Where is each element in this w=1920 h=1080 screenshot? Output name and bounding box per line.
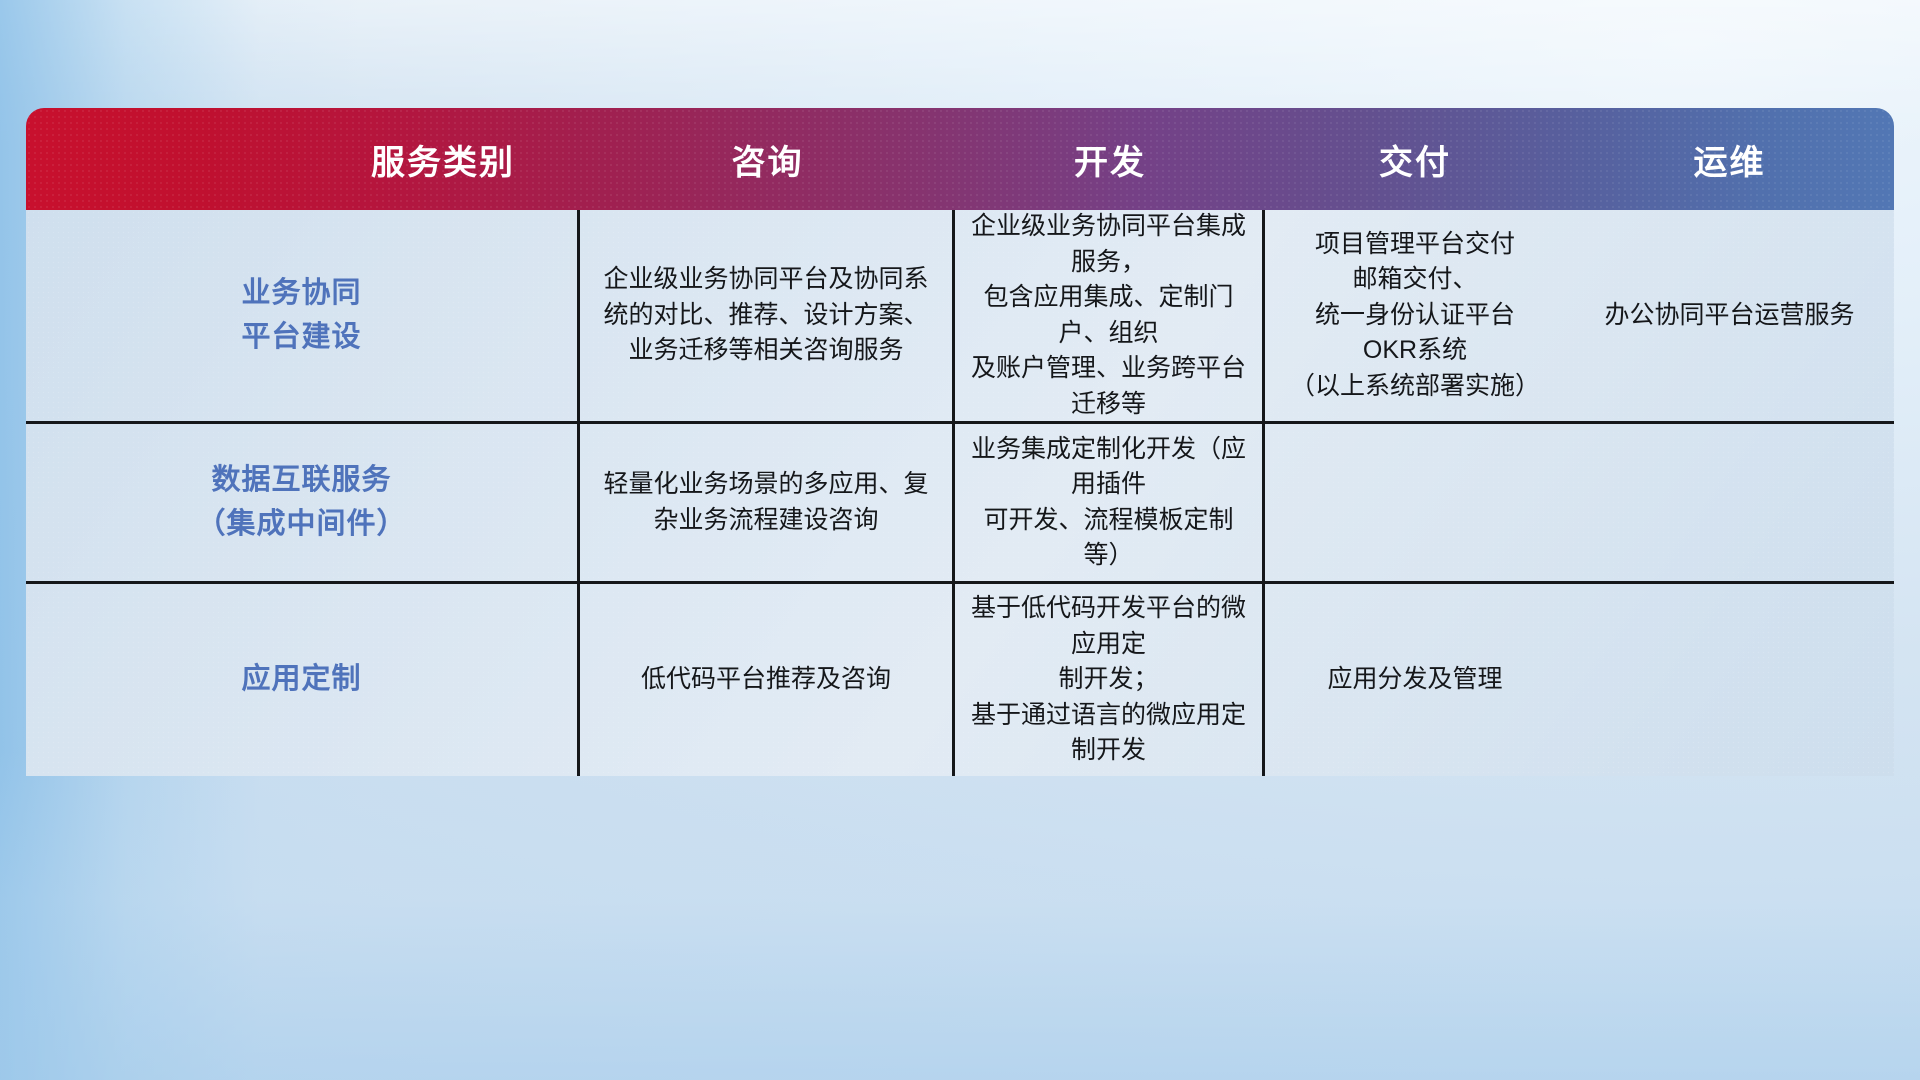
cell-development: 基于低代码开发平台的微应用定 制开发； 基于通过语言的微应用定制开发 [955,584,1265,776]
cell-consulting: 轻量化业务场景的多应用、复 杂业务流程建设咨询 [580,424,955,581]
header-cell-consulting: 咨询 [580,108,955,210]
cell-operations [1565,424,1894,581]
table-row: 数据互联服务 （集成中间件） 轻量化业务场景的多应用、复 杂业务流程建设咨询 业… [26,424,1894,584]
header-cell-delivery: 交付 [1265,108,1565,210]
cell-operations: 办公协同平台运营服务 [1565,210,1894,421]
service-category-table: 服务类别 咨询 开发 交付 运维 业务协同 平台建设 企业级业务协同平台及协同系… [26,108,1894,776]
cell-development: 企业级业务协同平台集成服务， 包含应用集成、定制门户、组织 及账户管理、业务跨平… [955,210,1265,421]
cell-category: 应用定制 [26,584,580,776]
table-body: 业务协同 平台建设 企业级业务协同平台及协同系 统的对比、推荐、设计方案、 业务… [26,210,1894,776]
header-cell-category: 服务类别 [306,108,580,210]
table-row: 应用定制 低代码平台推荐及咨询 基于低代码开发平台的微应用定 制开发； 基于通过… [26,584,1894,776]
cell-consulting: 低代码平台推荐及咨询 [580,584,955,776]
header-cell-operations: 运维 [1565,108,1894,210]
table-header-row: 服务类别 咨询 开发 交付 运维 [26,108,1894,210]
background-bottom-wash [0,750,1920,1080]
cell-operations [1565,584,1894,776]
header-cell-category-left [26,108,306,210]
header-cell-development: 开发 [955,108,1265,210]
cell-delivery: 应用分发及管理 [1265,584,1565,776]
cell-delivery [1265,424,1565,581]
table-row: 业务协同 平台建设 企业级业务协同平台及协同系 统的对比、推荐、设计方案、 业务… [26,210,1894,424]
cell-development: 业务集成定制化开发（应用插件 可开发、流程模板定制等） [955,424,1265,581]
cell-category: 数据互联服务 （集成中间件） [26,424,580,581]
cell-category: 业务协同 平台建设 [26,210,580,421]
cell-delivery: 项目管理平台交付 邮箱交付、 统一身份认证平台 OKR系统 （以上系统部署实施） [1265,210,1565,421]
cell-consulting: 企业级业务协同平台及协同系 统的对比、推荐、设计方案、 业务迁移等相关咨询服务 [580,210,955,421]
